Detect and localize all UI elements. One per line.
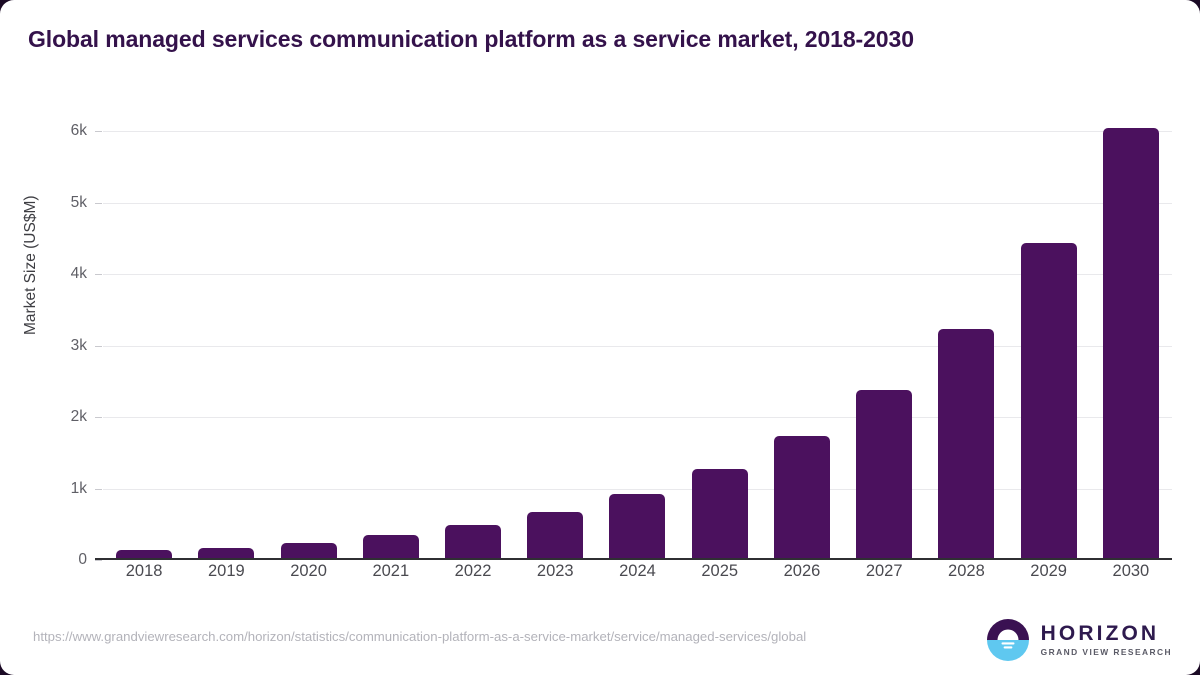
source-url[interactable]: https://www.grandviewresearch.com/horizo…	[33, 628, 953, 646]
y-axis-tick-label: 2k	[17, 408, 87, 426]
bar-slot	[432, 110, 514, 560]
plot-area: 01k2k3k4k5k6k 20182019202020212022202320…	[103, 110, 1172, 560]
logo-wordmark: HORIZON GRAND VIEW RESEARCH	[1041, 623, 1172, 657]
bar-slot	[596, 110, 678, 560]
bar[interactable]	[527, 512, 583, 560]
y-axis-tick-mark	[95, 346, 102, 347]
horizon-logo: HORIZON GRAND VIEW RESEARCH	[986, 617, 1172, 663]
bar[interactable]	[363, 535, 419, 560]
x-axis-tick-label: 2018	[103, 562, 185, 581]
x-axis-tick-label: 2022	[432, 562, 514, 581]
x-axis-tick-label: 2025	[679, 562, 761, 581]
bar[interactable]	[856, 390, 912, 560]
x-axis-tick-label: 2026	[761, 562, 843, 581]
horizon-logo-icon	[986, 618, 1030, 662]
logo-word: HORIZON	[1041, 623, 1172, 645]
x-axis-tick-label: 2028	[925, 562, 1007, 581]
y-axis-tick-label: 1k	[17, 480, 87, 498]
bar[interactable]	[938, 329, 994, 560]
x-axis-line	[95, 558, 1172, 560]
x-axis-tick-label: 2021	[350, 562, 432, 581]
y-axis-tick-label: 4k	[17, 265, 87, 283]
bar-slot	[514, 110, 596, 560]
bar-slot	[267, 110, 349, 560]
y-axis-tick-mark	[95, 560, 102, 561]
bar-slot	[843, 110, 925, 560]
bar[interactable]	[1021, 243, 1077, 560]
bar-slot	[679, 110, 761, 560]
bar-slot	[1008, 110, 1090, 560]
y-axis-tick-mark	[95, 131, 102, 132]
bar-slot	[103, 110, 185, 560]
x-axis-tick-label: 2019	[185, 562, 267, 581]
y-axis-tick-label: 0	[17, 551, 87, 569]
y-axis-tick-label: 5k	[17, 194, 87, 212]
bar-slot	[350, 110, 432, 560]
x-axis-tick-label: 2027	[843, 562, 925, 581]
x-axis-tick-label: 2020	[267, 562, 349, 581]
logo-subtitle: GRAND VIEW RESEARCH	[1041, 647, 1172, 657]
y-axis-tick-label: 3k	[17, 337, 87, 355]
bar[interactable]	[609, 494, 665, 560]
bar[interactable]	[692, 469, 748, 560]
y-axis-tick-label: 6k	[17, 122, 87, 140]
bar-slot	[185, 110, 267, 560]
x-axis-tick-label: 2029	[1008, 562, 1090, 581]
bar-series	[103, 110, 1172, 560]
x-axis-tick-label: 2023	[514, 562, 596, 581]
chart-card: Global managed services communication pl…	[0, 0, 1200, 675]
x-axis-tick-label: 2030	[1090, 562, 1172, 581]
y-axis-tick-mark	[95, 203, 102, 204]
y-axis-tick-mark	[95, 274, 102, 275]
y-axis-tick-mark	[95, 417, 102, 418]
bar-slot	[761, 110, 843, 560]
x-axis-tick-label: 2024	[596, 562, 678, 581]
bar-slot	[925, 110, 1007, 560]
bar-slot	[1090, 110, 1172, 560]
bar[interactable]	[774, 436, 830, 560]
bar[interactable]	[1103, 128, 1159, 560]
page-title: Global managed services communication pl…	[28, 26, 914, 53]
bar[interactable]	[445, 525, 501, 560]
y-axis-tick-mark	[95, 489, 102, 490]
